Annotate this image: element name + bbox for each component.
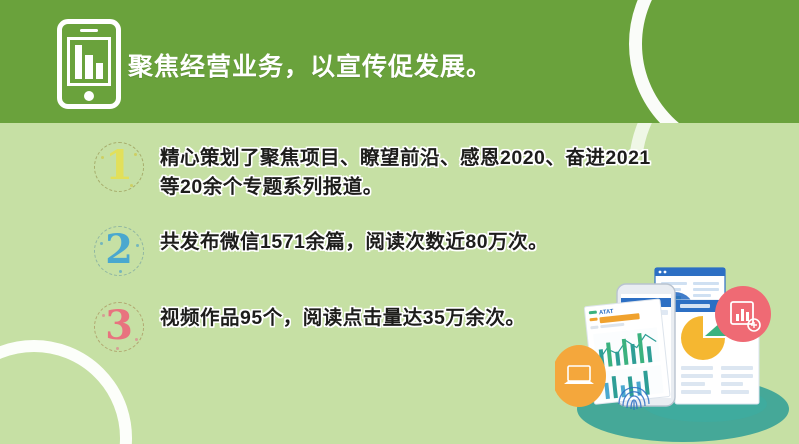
list-item: 3 视频作品95个，阅读点击量达35万余次。	[92, 300, 652, 354]
phone-bar-3	[96, 63, 103, 79]
page-title: 聚焦经营业务，以宣传促发展。	[128, 47, 492, 83]
bullet-number-2: 2	[92, 224, 146, 278]
header-band: 聚焦经营业务，以宣传促发展。	[0, 0, 799, 123]
analytics-badge	[715, 286, 771, 342]
slide-root: 聚焦经营业务，以宣传促发展。 1 精心策划了聚焦项目、瞭望前沿、感恩2020、奋…	[0, 0, 799, 444]
bullet-text-1: 精心策划了聚焦项目、瞭望前沿、感恩2020、奋进2021等20余个专题系列报道。	[160, 140, 652, 202]
phone-screen	[67, 37, 111, 86]
phone-bar-1	[75, 45, 82, 79]
phone-chart-icon	[57, 19, 121, 109]
bullet-number-1: 1	[92, 140, 146, 194]
bullet-number-3: 3	[92, 300, 146, 354]
list-item: 1 精心策划了聚焦项目、瞭望前沿、感恩2020、奋进2021等20余个专题系列报…	[92, 140, 652, 202]
bullet-number-badge-2: 2	[92, 224, 146, 278]
phone-bar-2	[85, 55, 92, 79]
bullet-list: 1 精心策划了聚焦项目、瞭望前沿、感恩2020、奋进2021等20余个专题系列报…	[92, 140, 652, 376]
phone-home-button-icon	[84, 91, 94, 101]
phone-speaker-icon	[80, 29, 98, 32]
bullet-number-badge-3: 3	[92, 300, 146, 354]
bullet-text-3: 视频作品95个，阅读点击量达35万余次。	[160, 300, 525, 333]
header-ring-decoration	[629, 0, 799, 123]
bullet-text-2: 共发布微信1571余篇，阅读次数近80万次。	[160, 224, 548, 257]
bullet-number-badge-1: 1	[92, 140, 146, 194]
list-item: 2 共发布微信1571余篇，阅读次数近80万次。	[92, 224, 652, 278]
